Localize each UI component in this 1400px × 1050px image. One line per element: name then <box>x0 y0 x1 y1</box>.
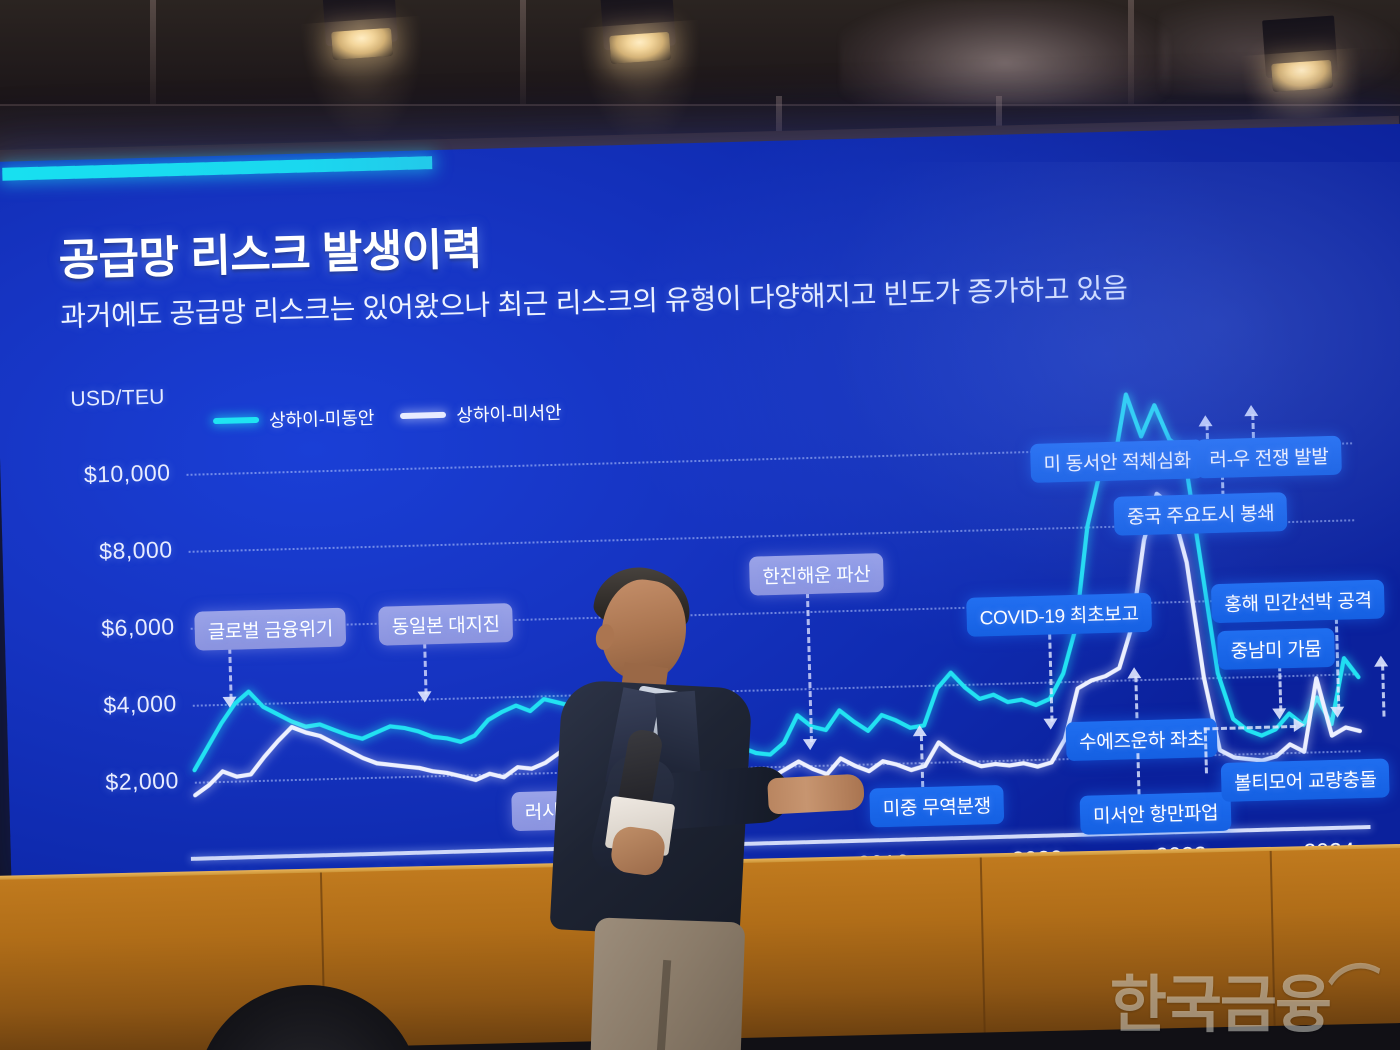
ceiling-spotlight <box>1262 15 1338 78</box>
y-axis-unit-label: USD/TEU <box>70 385 165 412</box>
annotation-latam-drought[interactable]: 중남미 가뭄 <box>1217 628 1335 670</box>
annotation-arrow-down <box>223 697 237 708</box>
annotation-arrow-up <box>1127 667 1141 678</box>
panel-seam <box>1270 851 1276 1026</box>
annotation-us-coast-congestion[interactable]: 미 동서안 적체심화 <box>1030 439 1204 483</box>
ceiling-pillar <box>1128 0 1134 104</box>
annotation-suez-canal-grounding[interactable]: 수에즈운하 좌초 <box>1066 718 1218 761</box>
y-tick-label: $8,000 <box>32 536 173 567</box>
annotation-arrow-down <box>1330 707 1344 718</box>
microphone-flag-text <box>615 816 666 823</box>
annotation-baltimore-bridge-collapse[interactable]: 볼티모어 교량충돌 <box>1221 758 1390 802</box>
annotation-arrow-up <box>1374 655 1388 666</box>
annotation-arrow-up <box>913 725 927 736</box>
annotation-global-financial-crisis[interactable]: 글로벌 금융위기 <box>194 608 346 651</box>
ceiling-beam-line <box>0 104 1400 106</box>
slide-accent-bar <box>2 156 432 181</box>
annotation-arrow-down <box>1043 718 1057 729</box>
ceiling-pillar <box>150 0 156 104</box>
ceiling-spotlight <box>600 0 676 50</box>
slide-title: 공급망 리스크 발생이력 <box>58 213 483 288</box>
annotation-arrow-down <box>417 691 431 702</box>
annotation-arrow-up <box>1198 415 1212 426</box>
annotation-red-sea-ship-attack[interactable]: 홍해 민간선박 공격 <box>1211 579 1385 623</box>
presenter-pointing-hand <box>767 774 865 815</box>
spotlight-lens <box>1271 60 1333 92</box>
annotation-arrow-up <box>1244 405 1258 416</box>
presenter <box>540 560 870 1050</box>
y-tick-label: $2,000 <box>38 767 179 798</box>
ceiling-texture-patch <box>840 0 1170 105</box>
photo-stage: 공급망 리스크 발생이력 과거에도 공급망 리스크는 있어왔으나 최근 리스크의… <box>0 0 1400 1050</box>
annotation-us-china-trade-war[interactable]: 미중 무역분쟁 <box>869 785 1004 828</box>
annotation-arrow-right <box>1294 718 1305 732</box>
ceiling-spotlight <box>322 0 398 46</box>
annotation-covid19-first-report[interactable]: COVID-19 최초보고 <box>966 593 1152 637</box>
annotation-japan-earthquake[interactable]: 동일본 대지진 <box>378 603 513 646</box>
annotation-russia-ukraine-war[interactable]: 러-우 전쟁 발발 <box>1196 436 1342 479</box>
spotlight-lens <box>609 32 671 64</box>
y-tick-label: $6,000 <box>34 613 175 644</box>
y-tick-label: $4,000 <box>36 690 177 721</box>
annotation-arrow-down <box>1272 708 1286 719</box>
annotation-connector <box>1381 665 1385 717</box>
panel-seam <box>980 857 986 1032</box>
ceiling-pillar <box>520 0 526 104</box>
annotation-uswest-port-strike[interactable]: 미서안 항만파업 <box>1080 792 1232 835</box>
spotlight-lens <box>331 28 393 60</box>
y-tick-label: $10,000 <box>30 459 171 490</box>
annotation-china-city-lockdown[interactable]: 중국 주요도시 봉쇄 <box>1113 492 1287 536</box>
